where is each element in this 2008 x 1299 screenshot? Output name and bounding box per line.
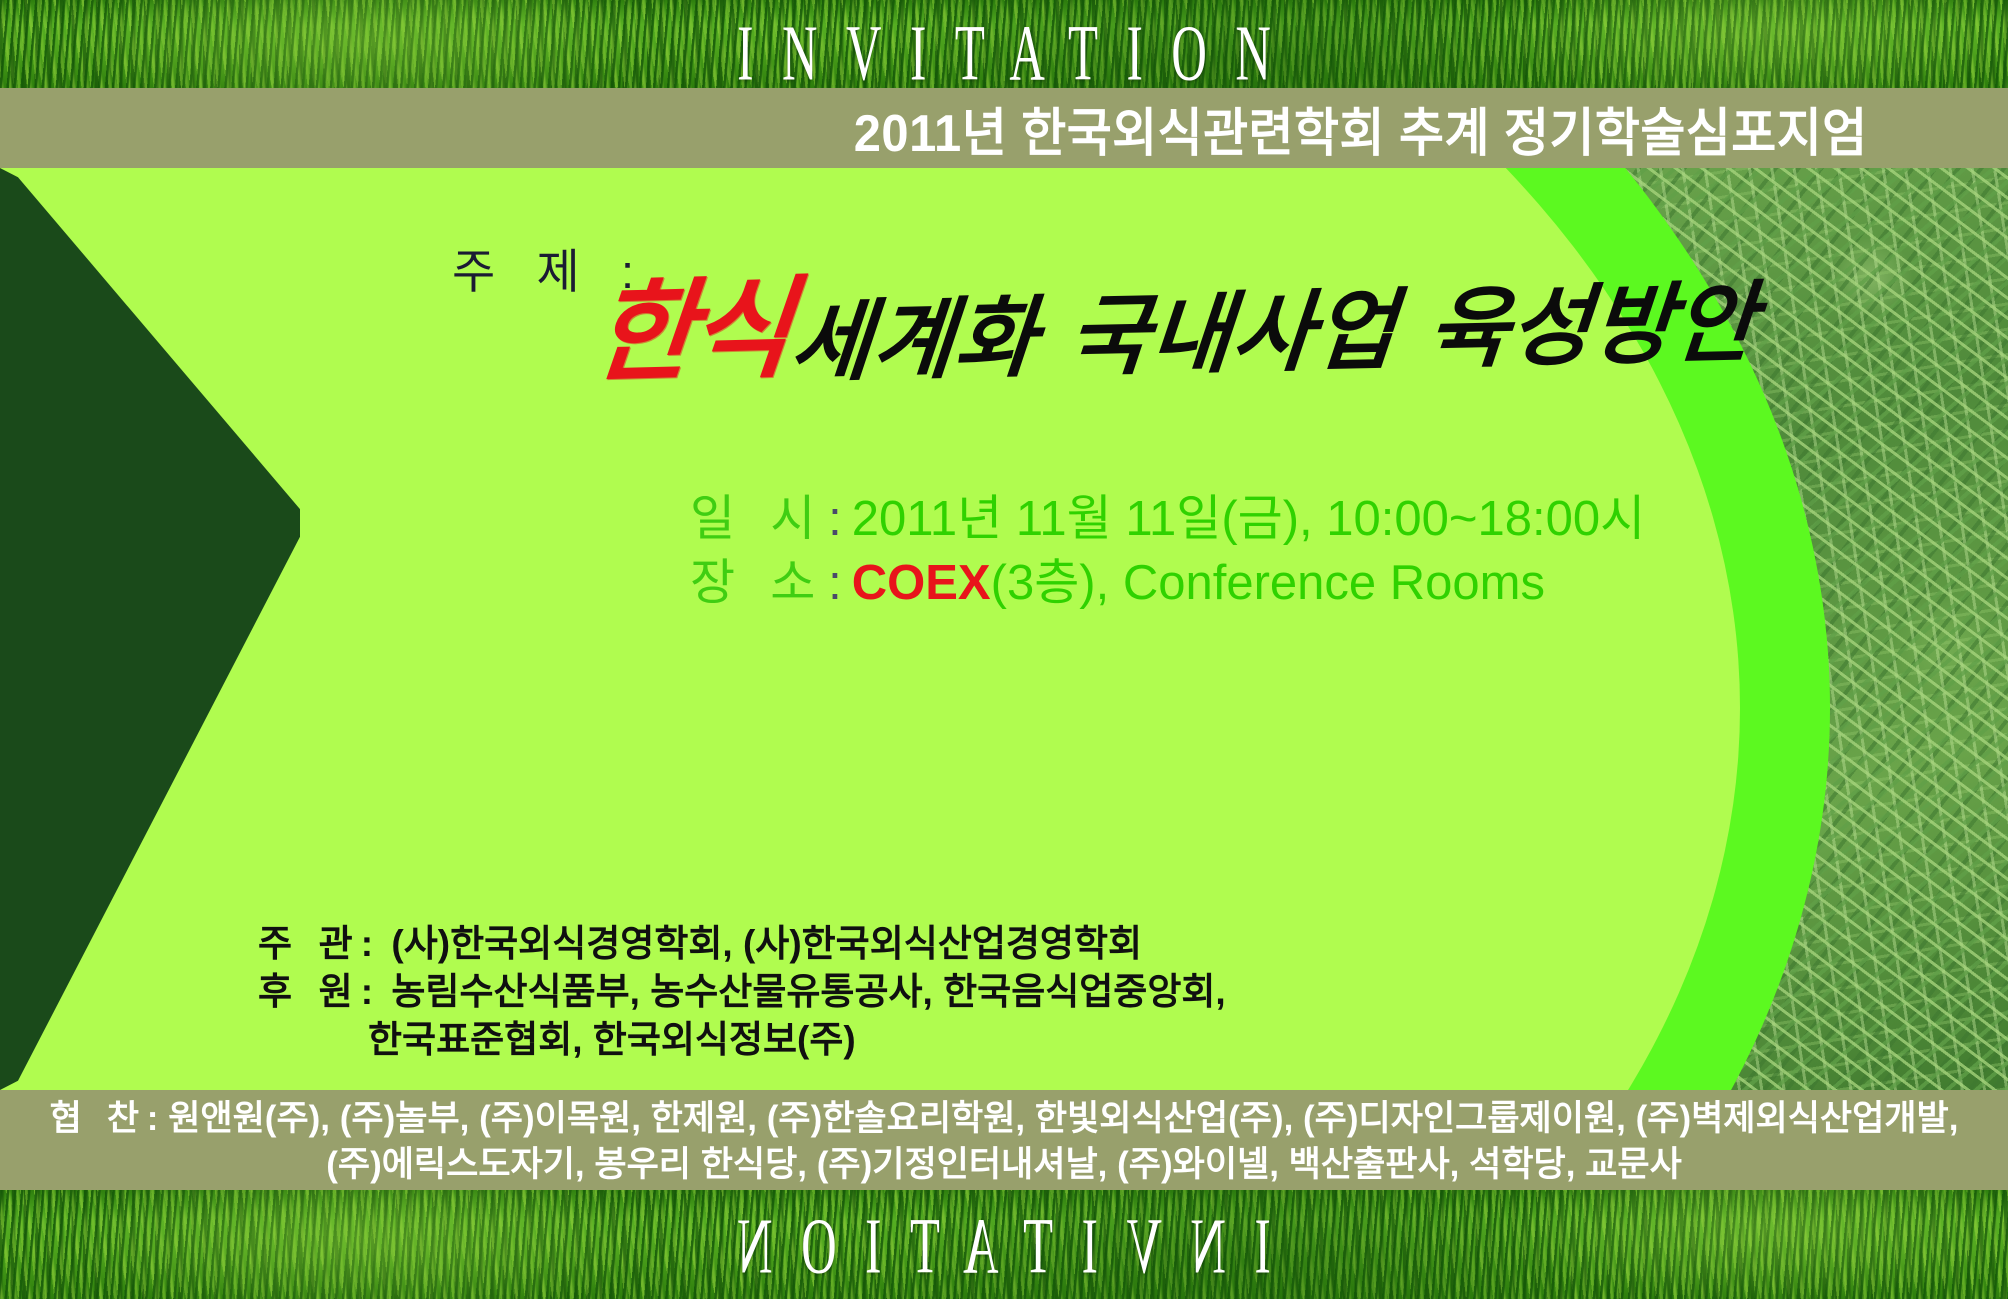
- page-title: 2011년 한국외식관련학회 추계 정기학술심포지엄: [854, 91, 1868, 166]
- supporter-label: 후 원: [258, 971, 361, 1012]
- sponsor-value-line2: (주)에릭스도자기, 봉우리 한식당, (주)기정인터내셔날, (주)와이넬, …: [326, 1145, 1682, 1184]
- supporter-colon: :: [361, 971, 373, 1012]
- organizer-line: 주 관: (사)한국외식경영학회, (사)한국외식산업경영학회: [258, 920, 1226, 968]
- sponsor-value-line1: 원앤원(주), (주)놀부, (주)이목원, 한제원, (주)한솔요리학원, 한…: [168, 1099, 1958, 1138]
- supporter-line-2: 한국표준협회, 한국외식정보(주): [258, 1016, 1226, 1064]
- hosts-block: 주 관: (사)한국외식경영학회, (사)한국외식산업경영학회 후 원: 농림수…: [258, 920, 1226, 1064]
- sponsor-colon: :: [147, 1099, 159, 1138]
- event-date-line: 일 시:2011년 11월 11일(금), 10:00~18:00시: [690, 488, 1645, 552]
- banner-word-bottom: INVITATION: [221, 1207, 1787, 1286]
- supporter-value-line2: 한국표준협회, 한국외식정보(주): [258, 1016, 856, 1064]
- sponsor-band: 협 찬: 원앤원(주), (주)놀부, (주)이목원, 한제원, (주)한솔요리…: [0, 1090, 2008, 1190]
- event-place-line: 장 소:COEX(3층), Conference Rooms: [690, 552, 1645, 616]
- supporter-line-1: 후 원: 농림수산식품부, 농수산물유통공사, 한국음식업중앙회,: [258, 968, 1226, 1016]
- invitation-poster: INVITATION 2011년 한국외식관련학회 추계 정기학술심포지엄 주 …: [0, 0, 2008, 1299]
- event-place-venue-accent: COEX: [852, 556, 991, 610]
- event-info-block: 일 시:2011년 11월 11일(금), 10:00~18:00시 장 소:C…: [690, 488, 1645, 615]
- subject-headline-red: 한식: [588, 273, 793, 388]
- organizer-colon: :: [361, 923, 373, 964]
- subject-headline-black: 세계화 국내사업 육성방안: [787, 278, 1760, 386]
- supporter-value-line1: 농림수산식품부, 농수산물유통공사, 한국음식업중앙회,: [391, 971, 1225, 1012]
- organizer-value: (사)한국외식경영학회, (사)한국외식산업경영학회: [391, 923, 1142, 964]
- poster-stage: 주 제 : 한식세계화 국내사업 육성방안 일 시:2011년 11월 11일(…: [0, 168, 2008, 1090]
- organizer-label: 주 관: [258, 923, 361, 964]
- event-date-label: 일 시: [690, 492, 826, 546]
- subject-headline: 한식세계화 국내사업 육성방안: [594, 276, 1755, 386]
- event-date-colon: :: [828, 492, 842, 546]
- event-place-colon: :: [828, 556, 842, 610]
- sponsor-line-2: (주)에릭스도자기, 봉우리 한식당, (주)기정인터내셔날, (주)와이넬, …: [0, 1142, 2008, 1188]
- title-band: 2011년 한국외식관련학회 추계 정기학술심포지엄: [0, 88, 2008, 168]
- event-date-value: 2011년 11월 11일(금), 10:00~18:00시: [852, 492, 1645, 546]
- banner-word-top: INVITATION: [221, 14, 1787, 93]
- sponsor-line-1: 협 찬: 원앤원(주), (주)놀부, (주)이목원, 한제원, (주)한솔요리…: [0, 1096, 2008, 1142]
- event-place-venue-rest: (3층), Conference Rooms: [991, 556, 1545, 610]
- event-place-label: 장 소: [690, 556, 826, 610]
- sponsor-label: 협 찬: [50, 1099, 147, 1138]
